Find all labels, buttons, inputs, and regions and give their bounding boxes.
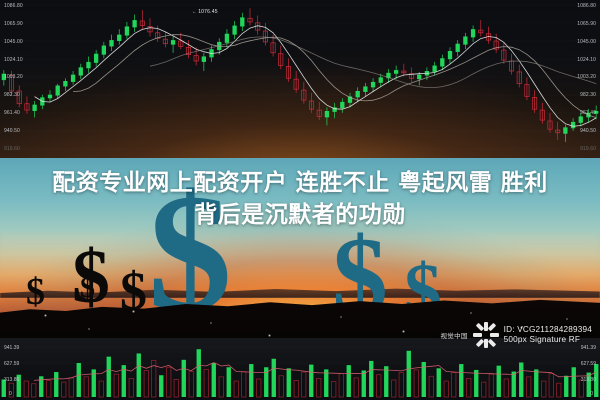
price-axis-right-tick: 919.60: [580, 146, 596, 152]
volume-axis-left-tick: 941.39: [4, 345, 19, 351]
price-axis-right-tick: 1003.20: [577, 74, 596, 80]
price-annotation-value: 1076.45: [198, 9, 217, 15]
price-axis-left-tick: 1065.90: [4, 21, 23, 27]
volume-axis-right-tick: 0: [590, 391, 593, 397]
volume-bar-series: [0, 339, 600, 400]
dollar-sign-small-left: $: [120, 270, 147, 312]
screenshot-root: $ $ $ $ $ $ $ 1086.80 1065.90 1045.00 10…: [0, 0, 600, 400]
price-axis-left-tick: 1003.20: [4, 74, 23, 80]
watermark: 视觉中国 ID: VCG211284289394 500px Signature…: [440, 322, 592, 348]
price-chart-panel[interactable]: 1086.80 1065.90 1045.00 1024.10 1003.20 …: [0, 0, 600, 158]
price-annotation: ←1076.45: [192, 9, 218, 15]
volume-axis-right-tick: 313.80: [581, 377, 596, 383]
price-axis-right-tick: 982.30: [580, 92, 596, 98]
bokeh-spark: [44, 314, 47, 317]
visual-china-asterisk-icon: [473, 322, 499, 348]
price-axis-right-tick: 1024.10: [577, 57, 596, 63]
price-axis-right-tick: 961.40: [580, 110, 596, 116]
volume-axis-left-tick: 313.80: [4, 377, 19, 383]
watermark-brand-cn: 视觉中国: [440, 330, 467, 340]
price-axis-left-tick: 1024.10: [4, 57, 23, 63]
watermark-license: 500px Signature RF: [504, 335, 592, 345]
bokeh-spark: [402, 330, 405, 333]
price-axis-left-tick: 1086.80: [4, 3, 23, 9]
bokeh-spark: [470, 312, 472, 314]
volume-axis-right-tick: 627.59: [581, 361, 596, 367]
price-axis-left-tick: 982.30: [4, 92, 20, 98]
price-axis-right-tick: 1086.80: [577, 3, 596, 9]
headline-line-2: 背后是沉默者的功勋: [14, 200, 586, 232]
price-axis-left-tick: 961.40: [4, 110, 20, 116]
price-axis-left-tick: 919.60: [4, 146, 20, 152]
price-axis-right-tick: 1065.90: [577, 21, 596, 27]
bokeh-spark: [210, 322, 212, 324]
watermark-id: ID: VCG211284289394: [504, 325, 592, 335]
volume-axis-left-tick: 0: [9, 391, 12, 397]
bokeh-spark: [566, 318, 568, 320]
bokeh-spark: [340, 316, 342, 318]
price-axis-left-tick: 940.50: [4, 128, 20, 134]
volume-axis-left-tick: 627.59: [4, 361, 19, 367]
bokeh-spark: [132, 310, 135, 313]
bokeh-spark: [88, 328, 90, 330]
headline-text: 配资专业网上配资开户 连胜不止 粤起风雷 胜利 背后是沉默者的功勋: [0, 168, 600, 231]
candlestick-series: [0, 0, 600, 158]
dollar-sign-tiny-far-right: $: [80, 276, 95, 299]
price-axis-right-tick: 1045.00: [577, 39, 596, 45]
left-arrow-icon: ←: [192, 9, 197, 15]
price-axis-left-tick: 1045.00: [4, 39, 23, 45]
headline-line-1: 配资专业网上配资开户 连胜不止 粤起风雷 胜利: [52, 170, 548, 196]
bokeh-spark: [268, 334, 271, 337]
price-axis-right-tick: 940.50: [580, 128, 596, 134]
dollar-sign-tiny-left: $: [26, 278, 45, 308]
